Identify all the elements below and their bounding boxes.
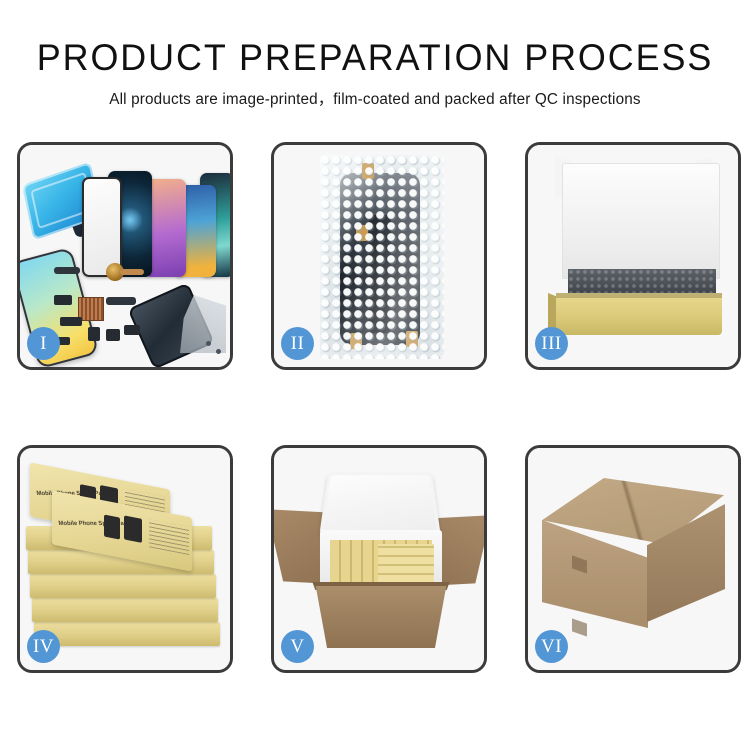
process-step-4[interactable]: Mobile Phone Spare Parts Mobile Phone Sp… xyxy=(17,445,233,673)
step-badge-3: III xyxy=(535,327,568,360)
page-header: PRODUCT PREPARATION PROCESS All products… xyxy=(0,0,750,109)
bubble-wrap-bag xyxy=(320,155,444,359)
stacked-box-3 xyxy=(30,574,216,598)
screw-2-icon xyxy=(216,349,221,354)
step-badge-5: V xyxy=(281,630,314,663)
page-subtitle: All products are image-printed，film-coat… xyxy=(0,87,750,109)
stacked-box-5 xyxy=(34,622,220,646)
page-title: PRODUCT PREPARATION PROCESS xyxy=(11,38,739,78)
kraft-box-tray xyxy=(556,293,722,335)
stacked-box-4 xyxy=(32,598,218,622)
step-badge-2: II xyxy=(281,327,314,360)
flex-cable-2-icon xyxy=(120,269,144,275)
process-step-5[interactable]: V xyxy=(271,445,487,673)
foam-lid xyxy=(319,473,441,536)
plastic-sheen xyxy=(320,155,444,359)
small-part-5-icon xyxy=(124,325,140,335)
screw-1-icon xyxy=(206,341,211,346)
carton-body xyxy=(310,586,452,648)
flex-cable-3-icon xyxy=(106,297,136,305)
small-part-2-icon xyxy=(60,317,82,326)
box-window-4 xyxy=(124,515,142,542)
step-badge-4: IV xyxy=(27,630,60,663)
phone-screen-fan xyxy=(82,161,232,277)
phone-display-1 xyxy=(82,177,122,277)
process-step-6[interactable]: VI xyxy=(525,445,741,673)
box-stack: Mobile Phone Spare Parts Mobile Phone Sp… xyxy=(26,470,226,660)
step-badge-6: VI xyxy=(535,630,568,663)
box-window-3 xyxy=(104,515,120,540)
box-label-text-front: Mobile Phone Spare Parts xyxy=(58,521,132,527)
small-part-1-icon xyxy=(54,295,72,305)
process-grid: I II III xyxy=(17,142,733,673)
flex-cable-1-icon xyxy=(54,267,80,274)
step-badge-1: I xyxy=(27,327,60,360)
box-spec-lines-front xyxy=(149,519,189,555)
process-step-1[interactable]: I xyxy=(17,142,233,370)
small-part-3-icon xyxy=(88,327,100,341)
carton-tape-lower xyxy=(572,618,587,636)
process-step-2[interactable]: II xyxy=(271,142,487,370)
small-part-4-icon xyxy=(106,329,120,341)
white-box-lid xyxy=(562,163,720,279)
retail-boxes-row-2 xyxy=(378,544,434,582)
process-step-3[interactable]: III xyxy=(525,142,741,370)
